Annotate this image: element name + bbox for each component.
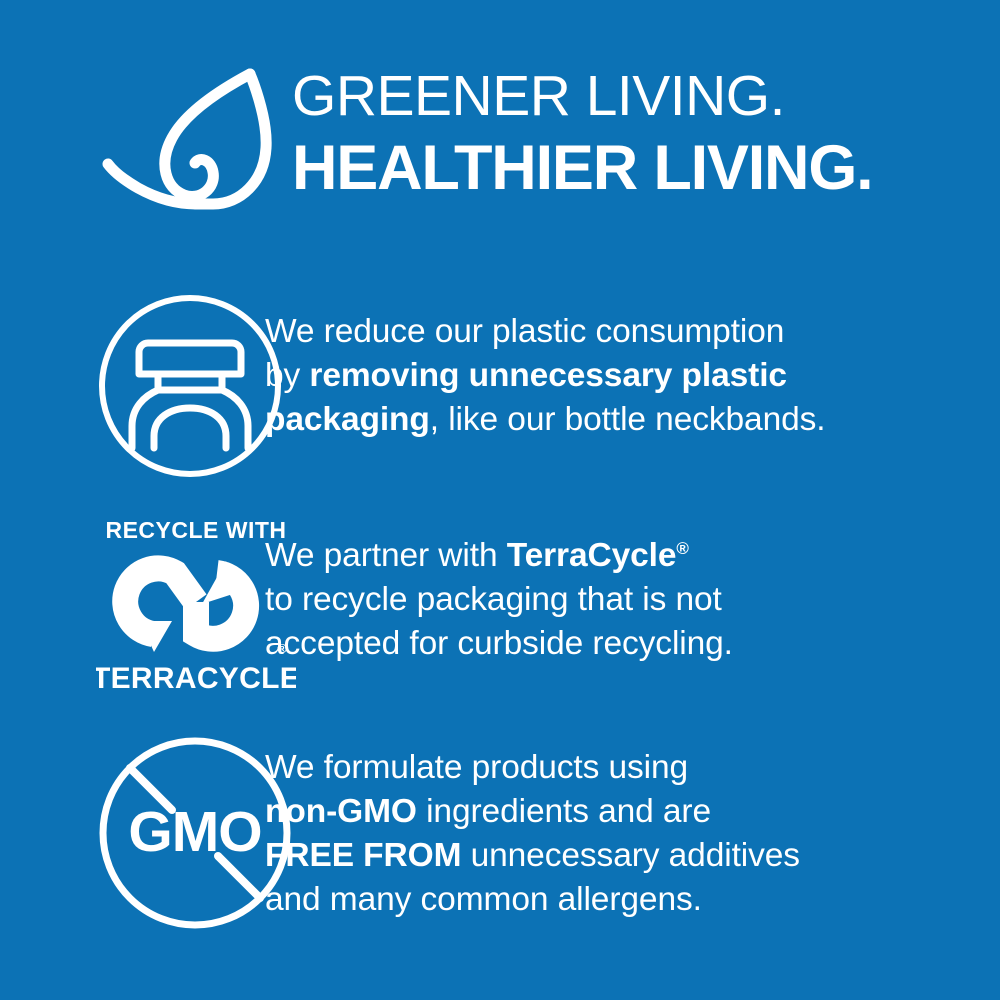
body-line: to recycle packaging that is not bbox=[265, 578, 970, 622]
body-line: by removing unnecessary plastic bbox=[265, 354, 970, 398]
body-line: We partner with TerraCycle® bbox=[265, 534, 970, 578]
body-line: accepted for curbside recycling. bbox=[265, 622, 970, 666]
feature-row-plastic-reduction: We reduce our plastic consumptionby remo… bbox=[0, 292, 1000, 492]
icon-column: RECYCLE WITH ® TERRACYCLE bbox=[0, 516, 280, 698]
body-line: non-GMO ingredients and are bbox=[265, 790, 970, 834]
feature-text-plastic-reduction: We reduce our plastic consumptionby remo… bbox=[265, 292, 1000, 442]
headline-block: GREENER LIVING. HEALTHIER LIVING. bbox=[292, 68, 872, 200]
feature-text-non-gmo: We formulate products usingnon-GMO ingre… bbox=[265, 734, 1000, 922]
body-line: We reduce our plastic consumption bbox=[265, 310, 970, 354]
bottle-in-circle-icon bbox=[96, 292, 284, 480]
feature-text-terracycle: We partner with TerraCycle®to recycle pa… bbox=[265, 516, 1000, 666]
icon-column bbox=[0, 292, 280, 480]
recycle-with-label: RECYCLE WITH bbox=[105, 517, 286, 543]
headline-line-1: GREENER LIVING. bbox=[292, 68, 872, 125]
terracycle-wordmark: TERRACYCLE bbox=[96, 662, 296, 695]
body-line: and many common allergens. bbox=[265, 878, 970, 922]
icon-column: GMO bbox=[0, 734, 280, 932]
poster-header: GREENER LIVING. HEALTHIER LIVING. bbox=[0, 62, 1000, 232]
leaf-icon bbox=[100, 64, 290, 224]
body-line: packaging, like our bottle neckbands. bbox=[265, 398, 970, 442]
greener-living-poster: GREENER LIVING. HEALTHIER LIVING. bbox=[0, 0, 1000, 1000]
body-line: FREE FROM unnecessary additives bbox=[265, 834, 970, 878]
gmo-label: GMO bbox=[128, 800, 261, 864]
body-line: We formulate products using bbox=[265, 746, 970, 790]
headline-line-2: HEALTHIER LIVING. bbox=[292, 137, 872, 200]
feature-row-terracycle: RECYCLE WITH ® TERRACYCLE bbox=[0, 516, 1000, 716]
feature-row-non-gmo: GMO We formulate products usingnon-GMO i… bbox=[0, 734, 1000, 944]
